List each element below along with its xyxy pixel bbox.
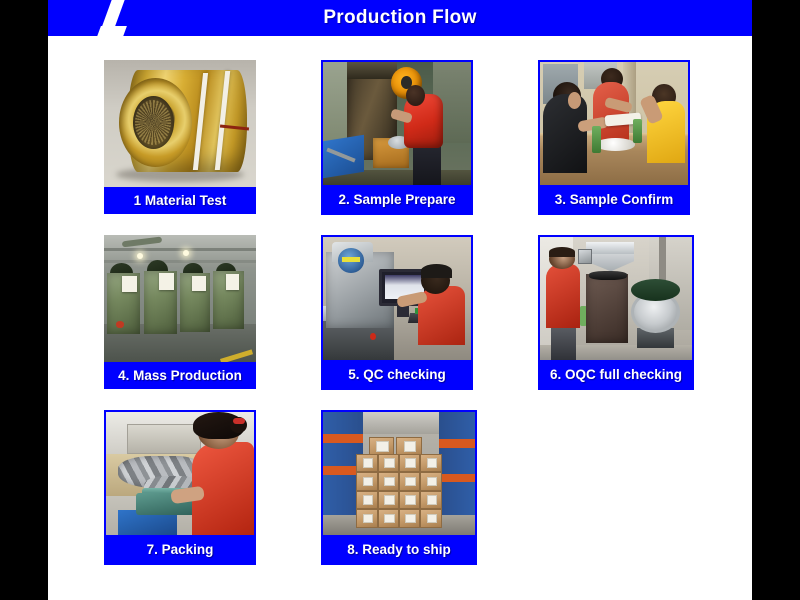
step-caption-5: 5. QC checking bbox=[321, 361, 473, 390]
step-caption-8-text: 8. Ready to ship bbox=[347, 542, 451, 557]
step-caption-4: 4. Mass Production bbox=[104, 362, 256, 389]
step-caption-6: 6. OQC full checking bbox=[538, 361, 694, 390]
step-card-8[interactable]: 8. Ready to ship bbox=[321, 410, 477, 565]
title-banner: Production Flow bbox=[48, 0, 752, 36]
step-photo-sample-confirm bbox=[538, 60, 690, 187]
step-card-4[interactable]: 4. Mass Production bbox=[104, 235, 256, 389]
step-photo-material-test bbox=[104, 60, 256, 187]
step-caption-3-text: 3. Sample Confirm bbox=[555, 192, 674, 207]
letterbox-right bbox=[752, 0, 800, 600]
step-card-5[interactable]: 5. QC checking bbox=[321, 235, 473, 390]
step-card-3[interactable]: 3. Sample Confirm bbox=[538, 60, 690, 215]
step-caption-4-text: 4. Mass Production bbox=[118, 368, 242, 383]
step-caption-1: 1 Material Test bbox=[104, 187, 256, 214]
step-photo-packing bbox=[104, 410, 256, 537]
step-photo-ready-to-ship bbox=[321, 410, 477, 537]
step-caption-3: 3. Sample Confirm bbox=[538, 186, 690, 215]
step-photo-qc-checking bbox=[321, 235, 473, 362]
step-caption-8: 8. Ready to ship bbox=[321, 536, 477, 565]
step-caption-7-text: 7. Packing bbox=[147, 542, 214, 557]
step-caption-5-text: 5. QC checking bbox=[348, 367, 446, 382]
step-photo-oqc-full-checking bbox=[538, 235, 694, 362]
step-photo-sample-prepare bbox=[321, 60, 473, 187]
steps-grid: 1 Material Test bbox=[48, 36, 752, 600]
step-card-7[interactable]: 7. Packing bbox=[104, 410, 256, 565]
step-caption-2: 2. Sample Prepare bbox=[321, 186, 473, 215]
step-photo-mass-production bbox=[104, 235, 256, 362]
step-card-2[interactable]: 2. Sample Prepare bbox=[321, 60, 473, 215]
production-flow-slide: Production Flow 1 Material Test bbox=[0, 0, 800, 600]
page-title: Production Flow bbox=[48, 0, 752, 36]
slide-page: Production Flow 1 Material Test bbox=[48, 0, 752, 600]
letterbox-left bbox=[0, 0, 48, 600]
step-caption-7: 7. Packing bbox=[104, 536, 256, 565]
step-caption-6-text: 6. OQC full checking bbox=[550, 367, 682, 382]
step-card-1[interactable]: 1 Material Test bbox=[104, 60, 256, 214]
step-caption-2-text: 2. Sample Prepare bbox=[338, 192, 455, 207]
step-card-6[interactable]: 6. OQC full checking bbox=[538, 235, 694, 390]
step-caption-1-text: 1 Material Test bbox=[134, 193, 227, 208]
